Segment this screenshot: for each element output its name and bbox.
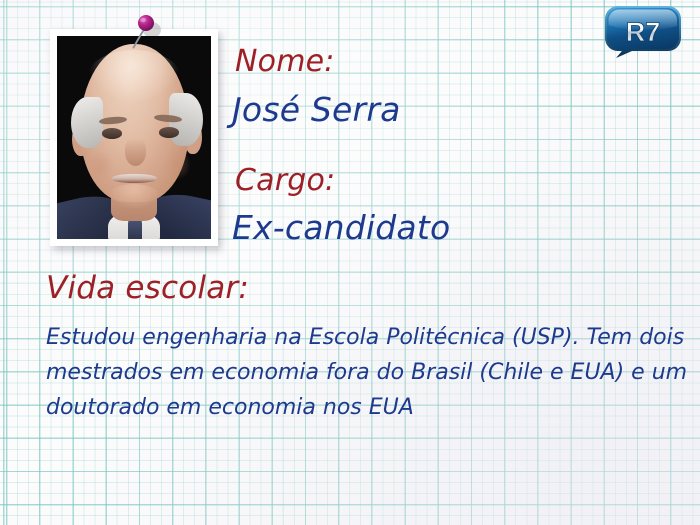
education-section-label: Vida escolar: [46,270,249,306]
nose [125,138,147,166]
education-line: mestrados em economia fora do Brasil (Ch… [46,355,662,390]
cheek-left [88,150,114,182]
cheek-right [165,148,191,180]
role-field-label: Cargo: [235,163,335,198]
role-field-value: Ex-candidato [232,208,450,247]
education-line: doutorado em economia nos EUA [46,390,662,425]
education-line: Estudou engenharia na Escola Politécnica… [46,320,662,355]
portrait-photo-card[interactable] [50,29,218,246]
eye-right [159,127,179,138]
chin [108,184,160,208]
name-field-label: Nome: [235,44,335,79]
graph-paper-page: R7 [0,0,700,525]
r7-logo[interactable]: R7 [604,5,682,59]
r7-logo-text: R7 [626,17,661,47]
name-field-value: José Serra [232,90,401,129]
necktie [128,219,142,239]
eye-left [102,128,122,139]
forehead-highlight [88,50,180,103]
portrait-photo [57,36,211,239]
education-section-body: Estudou engenharia na Escola Politécnica… [46,320,662,425]
